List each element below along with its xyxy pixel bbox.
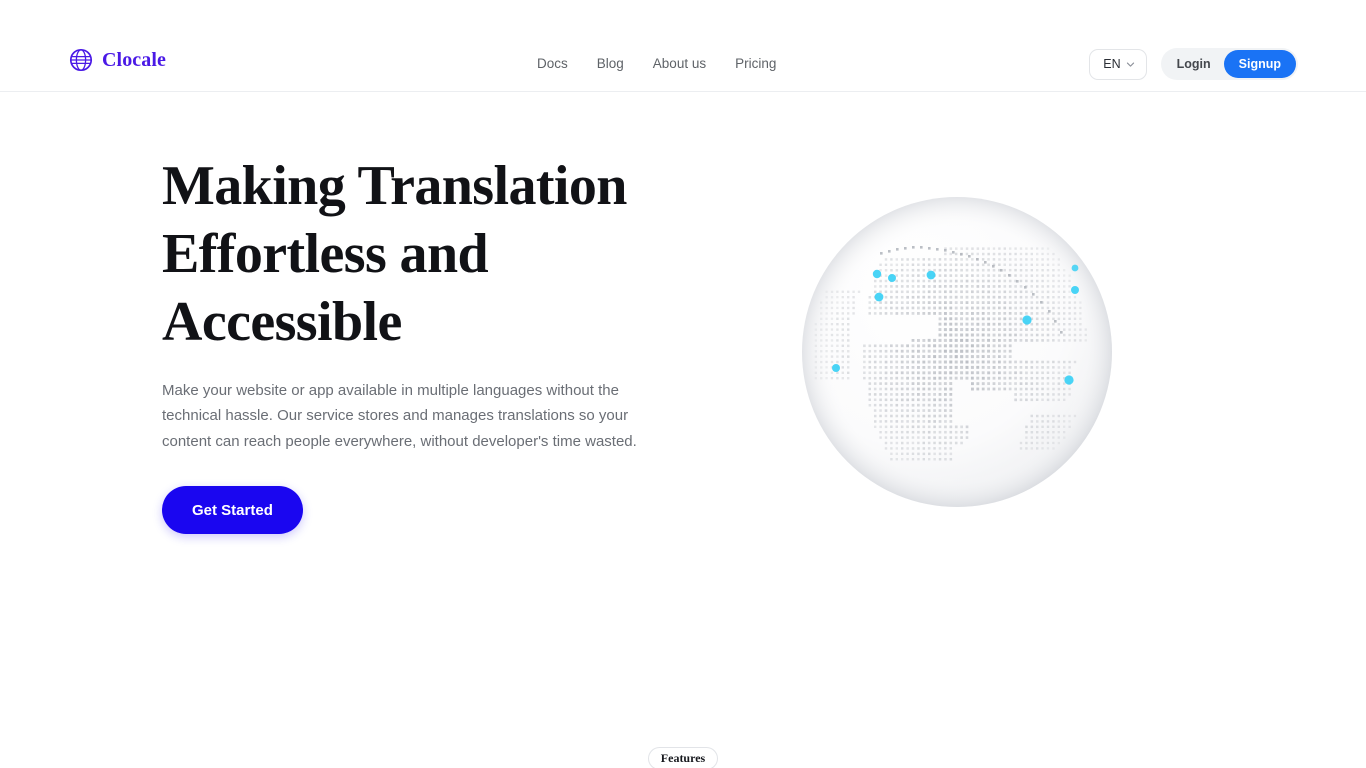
brand-logo[interactable]: Clocale	[68, 47, 166, 73]
signup-button[interactable]: Signup	[1224, 50, 1296, 78]
language-selector-value: EN	[1103, 57, 1120, 71]
page-title: Making Translation Effortless and Access…	[162, 152, 667, 356]
nav-item-blog[interactable]: Blog	[597, 56, 624, 72]
nav-item-about-us[interactable]: About us	[653, 56, 706, 72]
hero-copy: Making Translation Effortless and Access…	[162, 152, 682, 534]
language-selector[interactable]: EN	[1089, 49, 1146, 80]
main-nav: Docs Blog About us Pricing	[537, 56, 776, 72]
chevron-down-icon	[1126, 60, 1135, 69]
globe-illustration	[792, 190, 1122, 520]
features-badge: Features	[648, 747, 718, 768]
get-started-button[interactable]: Get Started	[162, 486, 303, 534]
auth-group: Login Signup	[1161, 48, 1298, 80]
hero-subtitle: Make your website or app available in mu…	[162, 378, 657, 454]
hero-section: Making Translation Effortless and Access…	[0, 92, 1366, 637]
site-header: Clocale Docs Blog About us Pricing EN Lo…	[0, 0, 1366, 92]
nav-item-pricing[interactable]: Pricing	[735, 56, 776, 72]
header-actions: EN Login Signup	[1089, 48, 1298, 80]
login-button[interactable]: Login	[1163, 50, 1224, 78]
features-header: Features Powerful features for modern te…	[0, 747, 1366, 768]
brand-name: Clocale	[102, 50, 166, 70]
nav-item-docs[interactable]: Docs	[537, 56, 568, 72]
globe-icon	[68, 47, 94, 73]
